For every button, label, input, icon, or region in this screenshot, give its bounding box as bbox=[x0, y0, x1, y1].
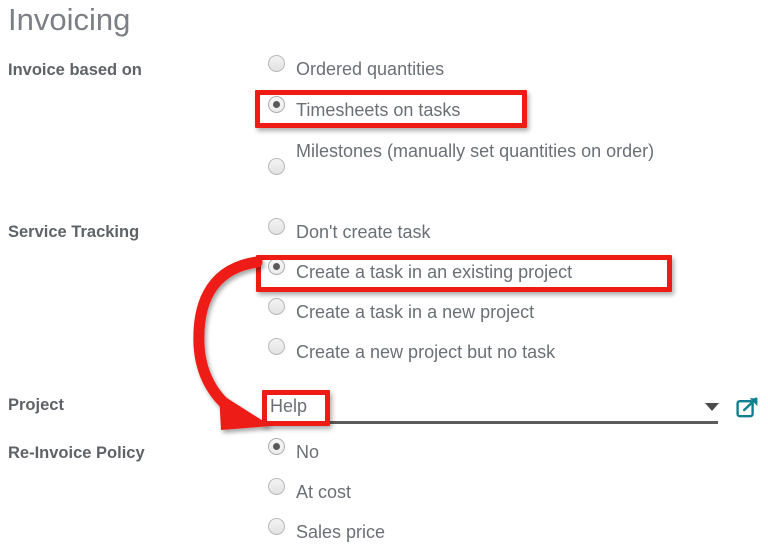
radio-icon-unchecked[interactable] bbox=[268, 158, 285, 175]
radio-option-label: Timesheets on tasks bbox=[296, 96, 460, 124]
field-label-re-invoice-policy: Re-Invoice Policy bbox=[8, 443, 145, 463]
radio-option-label: Create a new project but no task bbox=[296, 338, 555, 366]
radio-option-milestones[interactable]: Milestones (manually set quantities on o… bbox=[268, 137, 654, 175]
radio-icon-checked[interactable] bbox=[268, 258, 285, 275]
radio-icon-unchecked[interactable] bbox=[268, 218, 285, 235]
radio-icon-checked[interactable] bbox=[268, 438, 285, 455]
radio-option-label: No bbox=[296, 438, 319, 466]
radio-icon-unchecked[interactable] bbox=[268, 298, 285, 315]
project-select-underline bbox=[268, 421, 718, 424]
radio-group-re-invoice-policy: No At cost Sales price bbox=[268, 438, 385, 546]
page-title: Invoicing bbox=[8, 0, 130, 40]
radio-option-sales-price[interactable]: Sales price bbox=[268, 518, 385, 546]
radio-option-dont-create-task[interactable]: Don't create task bbox=[268, 218, 572, 246]
radio-icon-unchecked[interactable] bbox=[268, 478, 285, 495]
radio-option-label: At cost bbox=[296, 478, 351, 506]
radio-option-label: Don't create task bbox=[296, 218, 431, 246]
radio-icon-unchecked[interactable] bbox=[268, 55, 285, 72]
radio-group-invoice-based-on: Ordered quantities Timesheets on tasks M… bbox=[268, 55, 654, 175]
radio-option-at-cost[interactable]: At cost bbox=[268, 478, 385, 506]
radio-group-service-tracking: Don't create task Create a task in an ex… bbox=[268, 218, 572, 366]
radio-option-label: Create a task in an existing project bbox=[296, 258, 572, 286]
radio-option-create-new-project-no-task[interactable]: Create a new project but no task bbox=[268, 338, 572, 366]
chevron-down-icon[interactable] bbox=[705, 403, 719, 411]
radio-option-no[interactable]: No bbox=[268, 438, 385, 466]
radio-option-label: Ordered quantities bbox=[296, 55, 444, 83]
project-select[interactable]: Help bbox=[268, 392, 718, 424]
radio-icon-unchecked[interactable] bbox=[268, 338, 285, 355]
radio-option-create-task-existing-project[interactable]: Create a task in an existing project bbox=[268, 258, 572, 286]
field-label-invoice-based-on: Invoice based on bbox=[8, 60, 142, 80]
radio-option-create-task-new-project[interactable]: Create a task in a new project bbox=[268, 298, 572, 326]
field-label-project: Project bbox=[8, 395, 64, 415]
radio-icon-unchecked[interactable] bbox=[268, 518, 285, 535]
external-link-icon[interactable] bbox=[736, 396, 760, 420]
radio-icon-checked[interactable] bbox=[268, 96, 285, 113]
radio-option-timesheets-on-tasks[interactable]: Timesheets on tasks bbox=[268, 96, 654, 124]
radio-option-ordered-quantities[interactable]: Ordered quantities bbox=[268, 55, 654, 83]
radio-option-label: Create a task in a new project bbox=[296, 298, 534, 326]
radio-option-label: Sales price bbox=[296, 518, 385, 546]
project-select-value[interactable]: Help bbox=[270, 392, 307, 420]
radio-option-label: Milestones (manually set quantities on o… bbox=[296, 137, 654, 165]
invoicing-settings-screen: Invoicing Invoice based on Ordered quant… bbox=[0, 0, 768, 554]
field-label-service-tracking: Service Tracking bbox=[8, 222, 139, 242]
